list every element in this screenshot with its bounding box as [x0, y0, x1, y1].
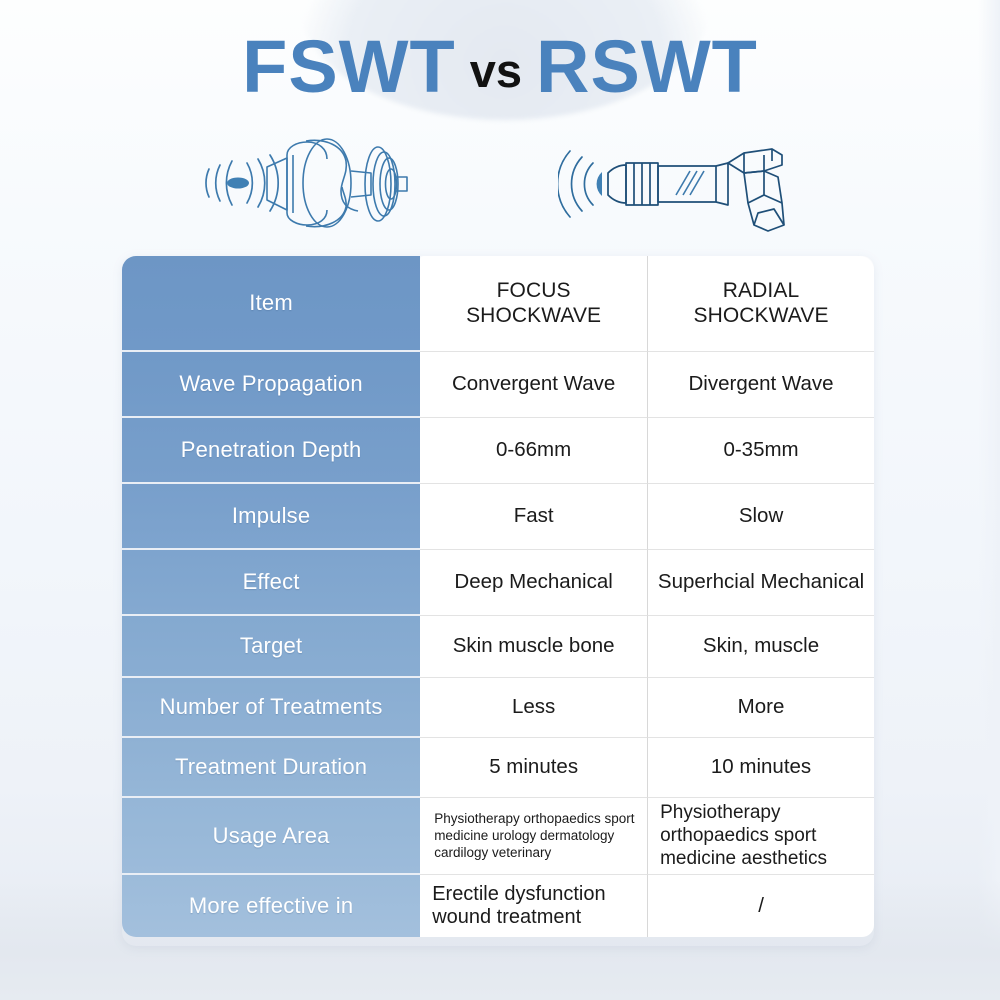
focal-point-marker [227, 178, 249, 189]
cell-focus-penetration-depth: 0-66mm [420, 418, 647, 484]
column-header-focus: FOCUS SHOCKWAVE [420, 256, 647, 352]
table-row: Usage Area Physiotherapy orthopaedics sp… [122, 798, 874, 875]
cell-radial-wave-propagation: Divergent Wave [647, 352, 874, 418]
row-label-more-effective-in: More effective in [122, 875, 420, 937]
cell-focus-more-effective-in: Erectile dysfunction wound treatment [420, 875, 647, 937]
infographic-page: FSWTvsRSWT [0, 0, 1000, 1000]
cell-focus-wave-propagation: Convergent Wave [420, 352, 647, 418]
cell-radial-number-of-treatments: More [647, 678, 874, 738]
table-row: More effective in Erectile dysfunction w… [122, 875, 874, 937]
cell-focus-target: Skin muscle bone [420, 616, 647, 678]
table-row: Penetration Depth 0-66mm 0-35mm [122, 418, 874, 484]
row-label-target: Target [122, 616, 420, 678]
comparison-table: Item FOCUS SHOCKWAVE RADIAL SHOCKWAVE Wa… [122, 256, 874, 937]
row-label-wave-propagation: Wave Propagation [122, 352, 420, 418]
focused-shockwave-handpiece-icon [175, 125, 425, 240]
cell-focus-usage-area: Physiotherapy orthopaedics sport medicin… [420, 798, 647, 875]
title-rswt: RSWT [536, 25, 758, 108]
cell-radial-penetration-depth: 0-35mm [647, 418, 874, 484]
table-row: Number of Treatments Less More [122, 678, 874, 738]
table-row: Impulse Fast Slow [122, 484, 874, 550]
row-label-penetration-depth: Penetration Depth [122, 418, 420, 484]
cell-focus-effect: Deep Mechanical [420, 550, 647, 616]
column-header-radial: RADIAL SHOCKWAVE [647, 256, 874, 352]
row-label-impulse: Impulse [122, 484, 420, 550]
table-row: Treatment Duration 5 minutes 10 minutes [122, 738, 874, 798]
wave-origin-marker [597, 172, 602, 196]
cell-focus-number-of-treatments: Less [420, 678, 647, 738]
table-row: Wave Propagation Convergent Wave Diverge… [122, 352, 874, 418]
table-row: Effect Deep Mechanical Superhcial Mechan… [122, 550, 874, 616]
cell-radial-impulse: Slow [647, 484, 874, 550]
table-row: Item FOCUS SHOCKWAVE RADIAL SHOCKWAVE [122, 256, 874, 352]
radial-shockwave-handpiece-icon [558, 125, 820, 245]
comparison-table-wrapper: Item FOCUS SHOCKWAVE RADIAL SHOCKWAVE Wa… [122, 256, 874, 937]
cell-radial-effect: Superhcial Mechanical [647, 550, 874, 616]
title-fswt: FSWT [242, 25, 456, 108]
row-label-item: Item [122, 256, 420, 352]
row-label-number-of-treatments: Number of Treatments [122, 678, 420, 738]
cell-radial-more-effective-in: / [647, 875, 874, 937]
row-label-treatment-duration: Treatment Duration [122, 738, 420, 798]
cell-radial-target: Skin, muscle [647, 616, 874, 678]
table-row: Target Skin muscle bone Skin, muscle [122, 616, 874, 678]
cell-radial-usage-area: Physiotherapy orthopaedics sport medicin… [647, 798, 874, 875]
cell-focus-treatment-duration: 5 minutes [420, 738, 647, 798]
title-vs: vs [456, 44, 536, 97]
cell-focus-impulse: Fast [420, 484, 647, 550]
row-label-usage-area: Usage Area [122, 798, 420, 875]
illustration-band [0, 125, 1000, 250]
cell-radial-treatment-duration: 10 minutes [647, 738, 874, 798]
page-title: FSWTvsRSWT [0, 30, 1000, 104]
row-label-effect: Effect [122, 550, 420, 616]
